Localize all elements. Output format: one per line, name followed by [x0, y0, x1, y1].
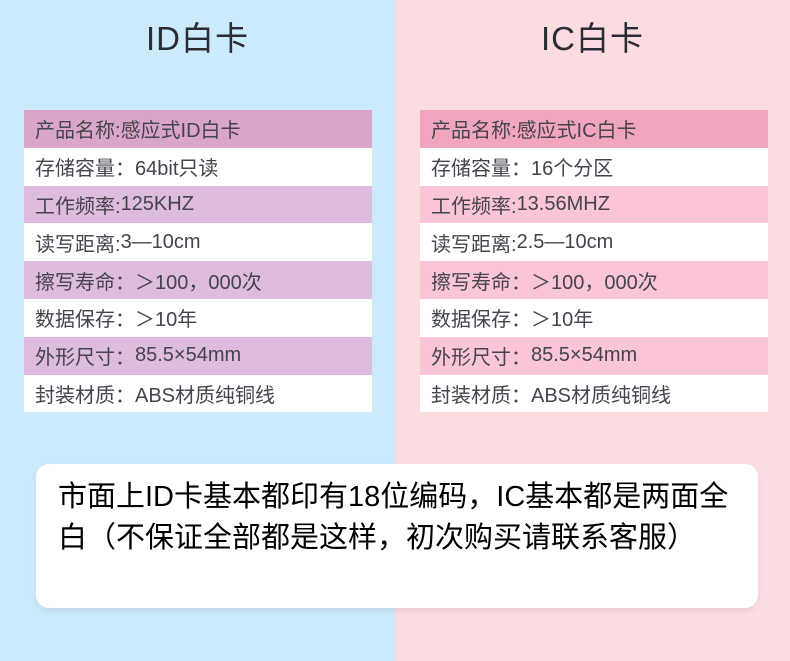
table-row: 外形尺寸： 85.5×54mm	[420, 337, 768, 375]
table-row: 产品名称: 感应式IC白卡	[420, 110, 768, 148]
id-card-spec-table: 产品名称: 感应式ID白卡 存储容量： 64bit只读 工作频率: 125KHZ…	[24, 110, 372, 412]
row-label: 读写距离:	[431, 228, 517, 257]
row-label: 产品名称:	[431, 114, 517, 143]
row-value: 2.5—10cm	[517, 231, 614, 254]
table-row: 封装材质： ABS材质纯铜线	[24, 375, 372, 413]
table-row: 封装材质： ABS材质纯铜线	[420, 375, 768, 413]
row-value: 16个分区	[531, 152, 613, 181]
row-label: 封装材质：	[35, 379, 135, 408]
row-value: ＞10年	[531, 303, 593, 332]
row-value: ABS材质纯铜线	[531, 379, 671, 408]
row-label: 擦写寿命：	[35, 266, 135, 295]
table-row: 工作频率: 125KHZ	[24, 186, 372, 224]
row-value: 13.56MHZ	[517, 193, 610, 216]
ic-card-spec-table: 产品名称: 感应式IC白卡 存储容量： 16个分区 工作频率: 13.56MHZ…	[420, 110, 768, 412]
row-label: 存储容量：	[431, 152, 531, 181]
row-label: 外形尺寸：	[431, 341, 531, 370]
row-value: ＞100，000次	[135, 266, 262, 295]
row-label: 数据保存：	[431, 303, 531, 332]
row-label: 数据保存：	[35, 303, 135, 332]
table-row: 读写距离: 3—10cm	[24, 223, 372, 261]
table-row: 存储容量： 16个分区	[420, 148, 768, 186]
row-value: ＞100，000次	[531, 266, 658, 295]
right-column-title: IC白卡	[395, 17, 790, 61]
row-value: 感应式ID白卡	[121, 114, 241, 143]
table-row: 数据保存： ＞10年	[24, 299, 372, 337]
row-label: 擦写寿命：	[431, 266, 531, 295]
row-value: ＞10年	[135, 303, 197, 332]
table-row: 产品名称: 感应式ID白卡	[24, 110, 372, 148]
row-label: 存储容量：	[35, 152, 135, 181]
row-label: 封装材质：	[431, 379, 531, 408]
table-row: 擦写寿命： ＞100，000次	[420, 261, 768, 299]
row-value: 3—10cm	[121, 231, 201, 254]
row-value: ABS材质纯铜线	[135, 379, 275, 408]
row-value: 感应式IC白卡	[517, 114, 637, 143]
row-value: 85.5×54mm	[135, 344, 241, 367]
row-label: 产品名称:	[35, 114, 121, 143]
product-spec-infographic: ID白卡 IC白卡 产品名称: 感应式ID白卡 存储容量： 64bit只读 工作…	[0, 0, 790, 661]
row-label: 读写距离:	[35, 228, 121, 257]
row-value: 85.5×54mm	[531, 344, 637, 367]
table-row: 工作频率: 13.56MHZ	[420, 186, 768, 224]
disclaimer-note-text: 市面上ID卡基本都印有18位编码，IC基本都是两面全白（不保证全部都是这样，初次…	[58, 477, 736, 559]
row-label: 工作频率:	[35, 190, 121, 219]
table-row: 外形尺寸： 85.5×54mm	[24, 337, 372, 375]
disclaimer-note-box: 市面上ID卡基本都印有18位编码，IC基本都是两面全白（不保证全部都是这样，初次…	[36, 464, 758, 608]
row-label: 工作频率:	[431, 190, 517, 219]
row-value: 125KHZ	[121, 193, 194, 216]
row-label: 外形尺寸：	[35, 341, 135, 370]
table-row: 数据保存： ＞10年	[420, 299, 768, 337]
table-row: 读写距离: 2.5—10cm	[420, 223, 768, 261]
table-row: 擦写寿命： ＞100，000次	[24, 261, 372, 299]
table-row: 存储容量： 64bit只读	[24, 148, 372, 186]
left-column-title: ID白卡	[0, 17, 395, 61]
row-value: 64bit只读	[135, 152, 218, 181]
